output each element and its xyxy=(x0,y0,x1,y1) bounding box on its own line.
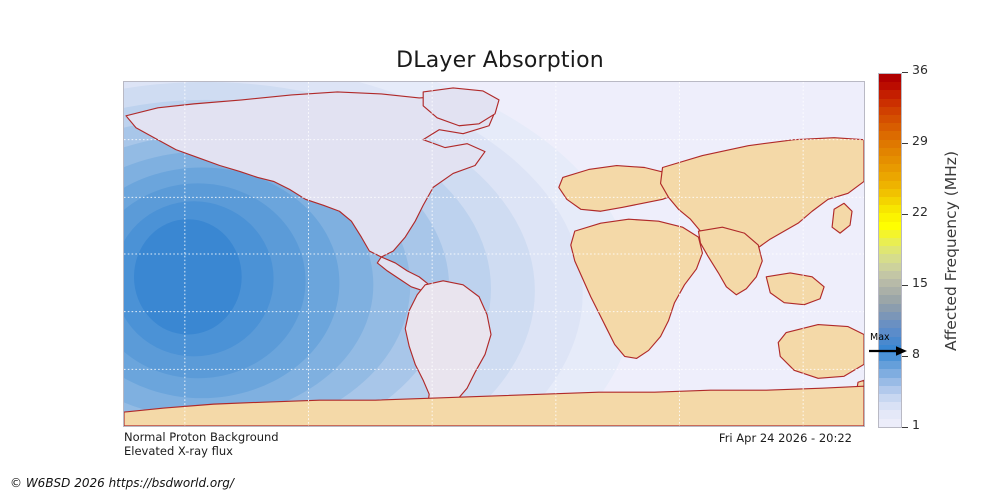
tick-dash xyxy=(902,72,908,73)
colorbar-band-35 xyxy=(879,361,901,369)
colorbar-band-23 xyxy=(879,263,901,271)
timestamp: Fri Apr 24 2026 - 20:22 xyxy=(719,431,852,446)
colorbar-band-24 xyxy=(879,271,901,279)
world-map xyxy=(124,82,864,426)
colorbar-band-21 xyxy=(879,246,901,254)
colorbar-band-22 xyxy=(879,254,901,262)
colorbar-band-2 xyxy=(879,90,901,98)
colorbar-band-13 xyxy=(879,181,901,189)
colorbar-band-34 xyxy=(879,353,901,361)
colorbar-band-1 xyxy=(879,82,901,90)
tick-label: 29 xyxy=(912,135,928,148)
colorbar-band-3 xyxy=(879,99,901,107)
colorbar-band-8 xyxy=(879,140,901,148)
colorbar-band-10 xyxy=(879,156,901,164)
tick-label: 1 xyxy=(912,419,920,432)
colorbar-band-26 xyxy=(879,287,901,295)
colorbar-band-40 xyxy=(879,402,901,410)
colorbar-band-39 xyxy=(879,394,901,402)
colorbar-band-41 xyxy=(879,410,901,418)
colorbar-band-38 xyxy=(879,386,901,394)
colorbar-band-7 xyxy=(879,131,901,139)
colorbar-band-5 xyxy=(879,115,901,123)
colorbar-band-4 xyxy=(879,107,901,115)
map-plot-area[interactable] xyxy=(123,81,865,427)
status-xray-flux: Elevated X-ray flux xyxy=(124,444,233,459)
tick-label: 22 xyxy=(912,206,928,219)
colorbar-band-29 xyxy=(879,312,901,320)
tick-dash xyxy=(902,214,908,215)
colorbar-band-33 xyxy=(879,345,901,353)
colorbar-band-42 xyxy=(879,419,901,427)
colorbar-band-25 xyxy=(879,279,901,287)
colorbar-band-9 xyxy=(879,148,901,156)
tick-dash xyxy=(902,143,908,144)
colorbar-band-28 xyxy=(879,304,901,312)
tick-dash xyxy=(902,285,908,286)
colorbar-band-27 xyxy=(879,295,901,303)
colorbar-band-31 xyxy=(879,328,901,336)
colorbar-band-12 xyxy=(879,172,901,180)
colorbar-band-36 xyxy=(879,369,901,377)
colorbar-band-30 xyxy=(879,320,901,328)
status-proton-background: Normal Proton Background xyxy=(124,430,279,445)
tick-label: 36 xyxy=(912,64,928,77)
colorbar-band-15 xyxy=(879,197,901,205)
colorbar-band-37 xyxy=(879,378,901,386)
colorbar-band-14 xyxy=(879,189,901,197)
colorbar-axis-label: Affected Frequency (MHz) xyxy=(938,73,964,428)
tick-dash xyxy=(902,356,908,357)
colorbar-band-0 xyxy=(879,74,901,82)
tick-label: 8 xyxy=(912,348,920,361)
colorbar-band-32 xyxy=(879,337,901,345)
colorbar-band-20 xyxy=(879,238,901,246)
colorbar-band-17 xyxy=(879,213,901,221)
page-title: DLayer Absorption xyxy=(0,48,1000,73)
colorbar[interactable] xyxy=(878,73,902,428)
tick-dash xyxy=(902,427,908,428)
tick-label: 15 xyxy=(912,277,928,290)
colorbar-band-11 xyxy=(879,164,901,172)
colorbar-band-18 xyxy=(879,222,901,230)
colorbar-band-16 xyxy=(879,205,901,213)
colorbar-band-19 xyxy=(879,230,901,238)
footer-credit: © W6BSD 2026 https://bsdworld.org/ xyxy=(10,476,234,490)
colorbar-band-6 xyxy=(879,123,901,131)
figure-canvas: DLayer Absorption xyxy=(0,0,1000,500)
